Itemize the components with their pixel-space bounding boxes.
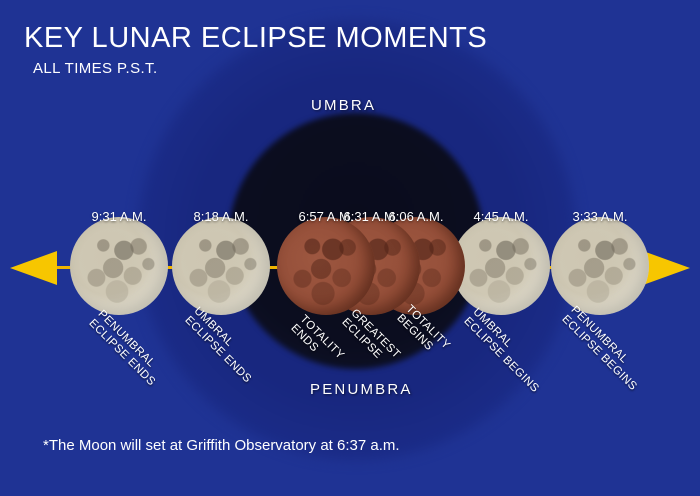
moon-disc-445am xyxy=(452,217,550,315)
page-title: KEY LUNAR ECLIPSE MOMENTS xyxy=(24,22,487,55)
timezone-subtitle: ALL TIMES P.S.T. xyxy=(33,60,158,77)
moon-disc-657am xyxy=(277,217,375,315)
moon-time-label: 3:33 A.M. xyxy=(545,209,655,224)
moon-disc-333am xyxy=(551,217,649,315)
moon-disc-931am xyxy=(70,217,168,315)
arrow-left-icon xyxy=(10,251,57,285)
footnote-text: *The Moon will set at Griffith Observato… xyxy=(43,437,400,454)
arrow-right-icon xyxy=(643,251,690,285)
moon-event-label: PENUMBRALECLIPSE BEGINS xyxy=(559,304,649,394)
eclipse-infographic: UMBRA PENUMBRA KEY LUNAR ECLIPSE MOMENTS… xyxy=(0,0,700,496)
moon-time-label: 4:45 A.M. xyxy=(446,209,556,224)
moon-time-label: 9:31 A.M. xyxy=(64,209,174,224)
umbra-label: UMBRA xyxy=(311,97,376,114)
penumbra-label: PENUMBRA xyxy=(310,381,413,398)
moon-disc-818am xyxy=(172,217,270,315)
moon-time-label: 8:18 A.M. xyxy=(166,209,276,224)
